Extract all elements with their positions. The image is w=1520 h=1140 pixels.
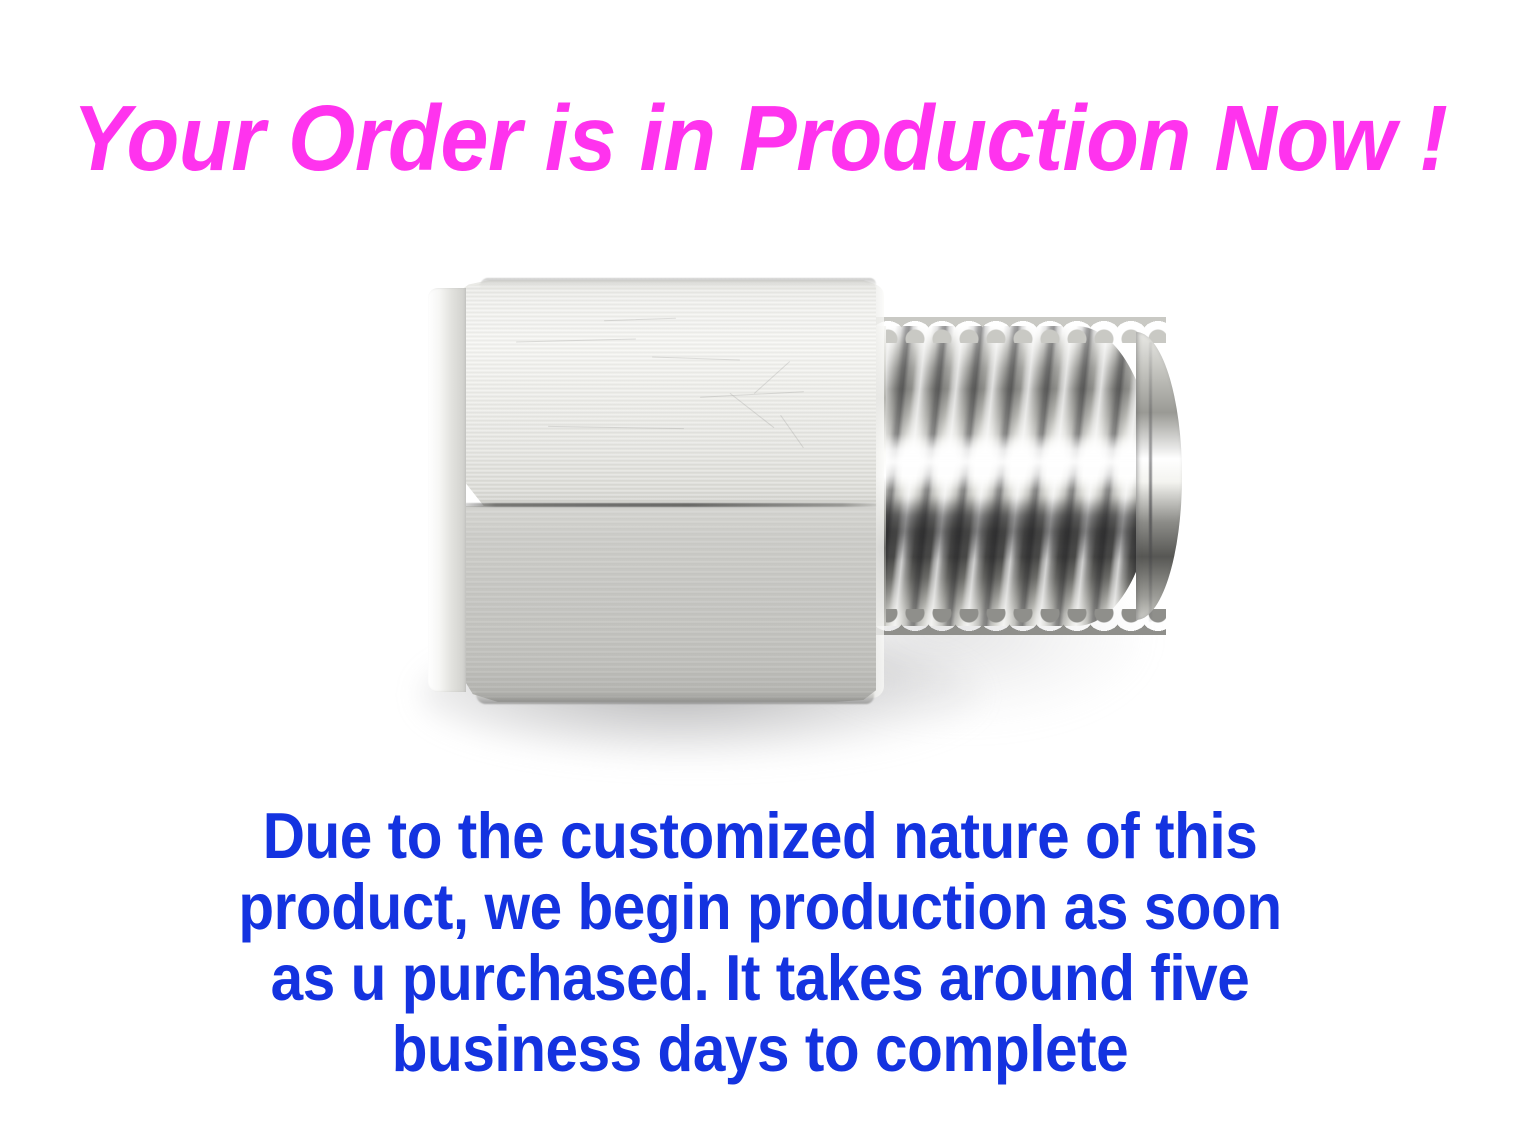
- notice-line-1: Due to the customized nature of this: [76, 800, 1444, 871]
- production-notice: Due to the customized nature of this pro…: [76, 800, 1444, 1084]
- product-image: [380, 230, 1220, 790]
- notice-line-4: business days to complete: [76, 1013, 1444, 1084]
- page-title: Your Order is in Production Now !: [53, 92, 1467, 185]
- hex-top-chamfer: [480, 278, 876, 290]
- hex-bottom-chamfer: [476, 690, 874, 704]
- thread-barrel: [852, 326, 1154, 626]
- thread-crests-bottom: [848, 609, 1166, 635]
- hex-surface-scratches: [468, 294, 868, 502]
- thread-shadow-band: [852, 498, 1154, 560]
- thread-end-groove: [1149, 342, 1152, 622]
- hex-left-chamfer: [428, 288, 466, 692]
- hex-body: [428, 280, 876, 700]
- notice-line-2: product, we begin production as soon: [76, 871, 1444, 942]
- promotional-poster: Your Order is in Production Now !: [0, 0, 1520, 1140]
- thread-highlight-band: [852, 434, 1154, 490]
- hex-machining-marks-lower: [456, 506, 876, 702]
- hex-face-edge: [458, 503, 876, 507]
- threaded-male-end: [852, 326, 1182, 626]
- thread-crests-top: [848, 317, 1166, 343]
- notice-line-3: as u purchased. It takes around five: [76, 942, 1444, 1013]
- thread-end-cap: [1136, 332, 1182, 620]
